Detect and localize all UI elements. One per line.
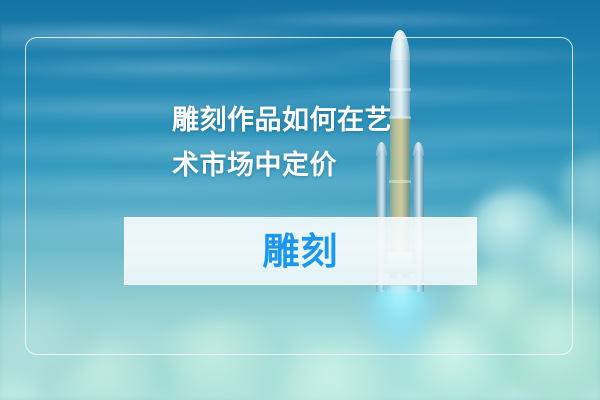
poster-canvas: 雕刻作品如何在艺 术市场中定价 雕刻 [0,0,600,400]
rocket-band [389,88,411,91]
exhaust-jet [352,292,448,400]
keyword-banner: 雕刻 [124,217,477,285]
rocket-nose-cone [390,30,410,64]
background-image [0,0,600,400]
page-title: 雕刻作品如何在艺 术市场中定价 [172,98,472,188]
keyword-banner-label: 雕刻 [263,233,339,270]
